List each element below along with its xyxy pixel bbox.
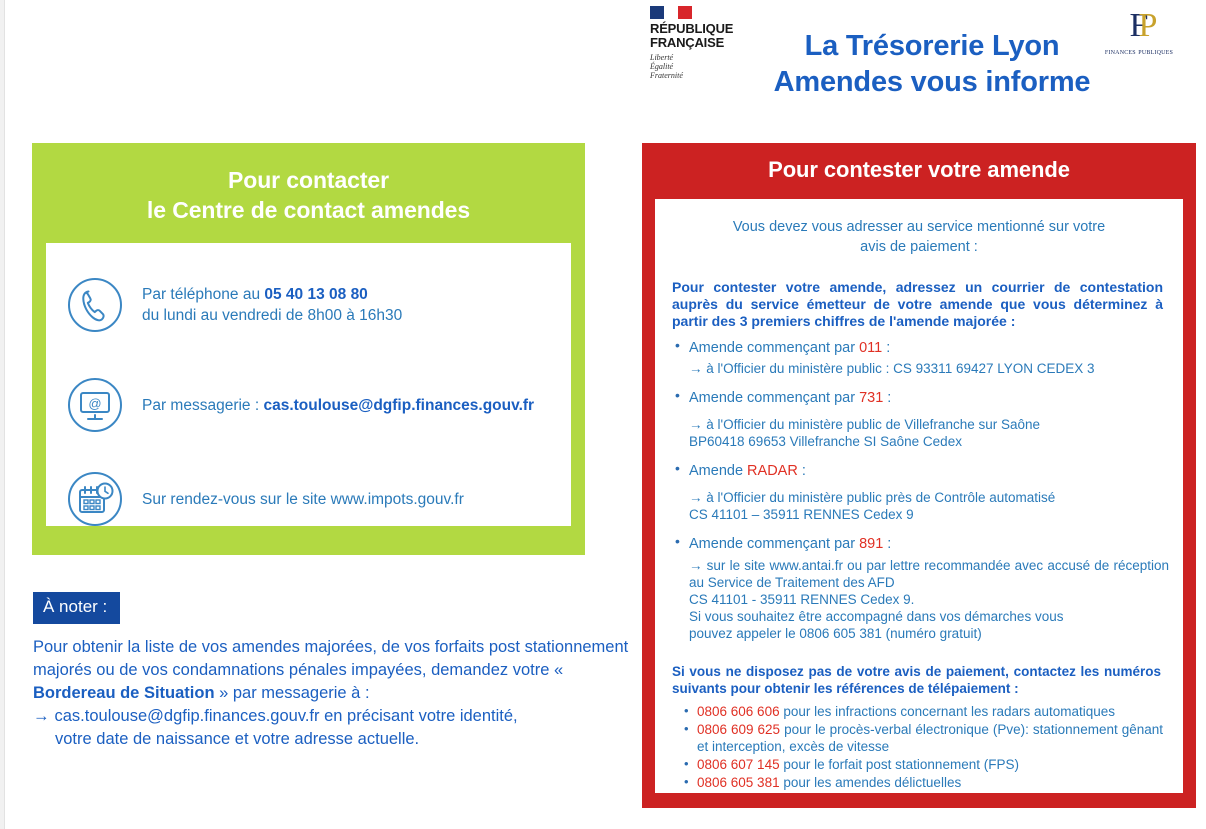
fp-letter-p: P <box>1139 8 1158 44</box>
contact-panel-title: Pour contacter le Centre de contact amen… <box>32 143 585 225</box>
contest-intro-line2: avis de paiement : <box>689 237 1149 257</box>
contact-panel-body: Par téléphone au 05 40 13 08 80 du lundi… <box>46 243 571 526</box>
fine-label-prefix: Amende commençant par <box>689 536 859 552</box>
phone-number[interactable]: 0806 609 625 <box>697 722 780 737</box>
contest-intro: Vous devez vous adresser au service ment… <box>655 199 1183 257</box>
fine-code: 891 <box>859 536 883 552</box>
fine-detail-line: CS 41101 – 35911 RENNES Cedex 9 <box>689 506 1169 523</box>
phone-number-desc: pour les infractions concernant les rada… <box>780 704 1115 719</box>
fine-label-prefix: Amende commençant par <box>689 340 859 356</box>
fine-label: Amende RADAR : <box>689 461 1169 481</box>
motto-fraternite: Fraternité <box>650 71 742 80</box>
fine-detail-line: Si vous souhaitez être accompagné dans v… <box>689 608 1169 625</box>
svg-text:@: @ <box>88 396 101 411</box>
arrow-right-icon: → <box>33 705 50 728</box>
phone-number-desc: pour les amendes délictuelles <box>780 775 962 790</box>
finances-publiques-label: FINANCES PUBLIQUES <box>1085 46 1193 56</box>
contest-panel: Pour contester votre amende Vous devez v… <box>642 143 1196 808</box>
email-monitor-icon: @ <box>66 376 124 434</box>
contact-phone-text: Par téléphone au 05 40 13 08 80 du lundi… <box>142 284 402 326</box>
contest-panel-body: Vous devez vous adresser au service ment… <box>655 199 1183 793</box>
appointment-label: Sur rendez-vous sur le site www.impots.g… <box>142 489 464 510</box>
republique-francaise-logo: RÉPUBLIQUE FRANÇAISE Liberté Égalité Fra… <box>650 6 742 88</box>
contact-title-line2: le Centre de contact amendes <box>32 195 585 225</box>
contest-lead-secondary: Si vous ne disposez pas de votre avis de… <box>655 653 1183 697</box>
a-noter-bold: Bordereau de Situation <box>33 684 215 702</box>
motto-liberte: Liberté <box>650 53 742 62</box>
phone-number[interactable]: 0806 606 606 <box>697 704 780 719</box>
a-noter-paragraph-end: » par messagerie à : <box>215 684 370 702</box>
finances-publiques-monogram-icon: FP <box>1130 8 1149 44</box>
document-header: RÉPUBLIQUE FRANÇAISE Liberté Égalité Fra… <box>642 0 1196 130</box>
fine-code: RADAR <box>747 463 798 479</box>
fine-detail-line: → à l'Officier du ministère public : CS … <box>689 360 1169 377</box>
finances-publiques-logo: FP FINANCES PUBLIQUES <box>1085 8 1193 56</box>
telepayment-number-list: 0806 606 606 pour les infractions concer… <box>655 703 1183 791</box>
fine-detail-line: pouvez appeler le 0806 605 381 (numéro g… <box>689 625 1169 642</box>
list-item: Amende commençant par 011 : → à l'Offici… <box>689 338 1169 377</box>
page-title-line1: La Trésorerie Lyon <box>742 28 1122 64</box>
contact-title-line1: Pour contacter <box>32 165 585 195</box>
fine-detail-line: → sur le site www.antai.fr ou par lettre… <box>689 557 1169 591</box>
a-noter-paragraph: Pour obtenir la liste de vos amendes maj… <box>33 638 628 679</box>
phone-label: Par téléphone au <box>142 286 264 303</box>
contact-email-text: Par messagerie : cas.toulouse@dgfip.fina… <box>142 395 534 416</box>
contact-appointment-text: Sur rendez-vous sur le site www.impots.g… <box>142 489 464 510</box>
a-noter-block: À noter : Pour obtenir la liste de vos a… <box>33 592 633 751</box>
contact-row-phone: Par téléphone au 05 40 13 08 80 du lundi… <box>46 243 571 334</box>
phone-icon <box>66 276 124 334</box>
list-item: 0806 609 625 pour le procès-verbal élect… <box>697 721 1163 755</box>
fine-label-suffix: : <box>883 390 891 406</box>
page-title-line2: Amendes vous informe <box>742 64 1122 100</box>
fine-detail-line: BP60418 69653 Villefranche SI Saône Cede… <box>689 433 1169 450</box>
contest-panel-title: Pour contester votre amende <box>642 143 1196 185</box>
republic-line1: RÉPUBLIQUE <box>650 22 742 36</box>
a-noter-email-line2: votre date de naissance et votre adresse… <box>33 728 633 751</box>
fine-label-prefix: Amende <box>689 463 747 479</box>
phone-hours: du lundi au vendredi de 8h00 à 16h30 <box>142 305 402 326</box>
fine-detail-line: → à l'Officier du ministère public près … <box>689 489 1169 506</box>
fine-label-suffix: : <box>882 340 890 356</box>
viewer-right-edge <box>1195 0 1206 829</box>
fine-code: 731 <box>859 390 883 406</box>
calendar-clock-icon <box>66 470 124 528</box>
contact-panel: Pour contacter le Centre de contact amen… <box>32 143 585 555</box>
fine-label: Amende commençant par 011 : <box>689 338 1169 358</box>
fine-label-prefix: Amende commençant par <box>689 390 859 406</box>
list-item: Amende commençant par 731 : → à l'Offici… <box>689 388 1169 450</box>
page-title: La Trésorerie Lyon Amendes vous informe <box>742 28 1122 100</box>
contact-row-email: @ Par messagerie : cas.toulouse@dgfip.fi… <box>46 334 571 434</box>
fine-label: Amende commençant par 891 : <box>689 534 1169 554</box>
republic-motto: Liberté Égalité Fraternité <box>650 53 742 80</box>
phone-number[interactable]: 0806 605 381 <box>697 775 780 790</box>
french-flag-icon <box>650 6 692 19</box>
contest-lead: Pour contester votre amende, adressez un… <box>655 257 1183 330</box>
fine-detail-line: → à l'Officier du ministère public de Vi… <box>689 416 1169 433</box>
motto-egalite: Égalité <box>650 62 742 71</box>
fine-code: 011 <box>859 340 882 356</box>
contest-intro-line1: Vous devez vous adresser au service ment… <box>689 217 1149 237</box>
email-address[interactable]: cas.toulouse@dgfip.finances.gouv.fr <box>263 397 534 414</box>
list-item: 0806 606 606 pour les infractions concer… <box>697 703 1163 720</box>
a-noter-text: Pour obtenir la liste de vos amendes maj… <box>33 636 633 751</box>
a-noter-badge: À noter : <box>33 592 120 624</box>
email-label: Par messagerie : <box>142 397 263 414</box>
list-item: 0806 607 145 pour le forfait post statio… <box>697 756 1163 773</box>
phone-number: 05 40 13 08 80 <box>264 286 367 303</box>
a-noter-email-line[interactable]: cas.toulouse@dgfip.finances.gouv.fr en p… <box>55 705 634 728</box>
republic-line2: FRANÇAISE <box>650 36 742 50</box>
fine-label-suffix: : <box>883 536 891 552</box>
contact-row-appointment: Sur rendez-vous sur le site www.impots.g… <box>46 434 571 528</box>
phone-number[interactable]: 0806 607 145 <box>697 757 780 772</box>
list-item: 0806 605 381 pour les amendes délictuell… <box>697 774 1163 791</box>
republique-francaise-name: RÉPUBLIQUE FRANÇAISE <box>650 22 742 49</box>
list-item: Amende RADAR : → à l'Officier du ministè… <box>689 461 1169 523</box>
fine-detail-line: CS 41101 - 35911 RENNES Cedex 9. <box>689 591 1169 608</box>
phone-number-desc: pour le forfait post stationnement (FPS) <box>780 757 1019 772</box>
document-page: RÉPUBLIQUE FRANÇAISE Liberté Égalité Fra… <box>5 0 1196 829</box>
fine-label: Amende commençant par 731 : <box>689 388 1169 408</box>
list-item: Amende commençant par 891 : → sur le sit… <box>689 534 1169 642</box>
fine-code-list: Amende commençant par 011 : → à l'Offici… <box>655 338 1183 642</box>
fine-label-suffix: : <box>798 463 806 479</box>
